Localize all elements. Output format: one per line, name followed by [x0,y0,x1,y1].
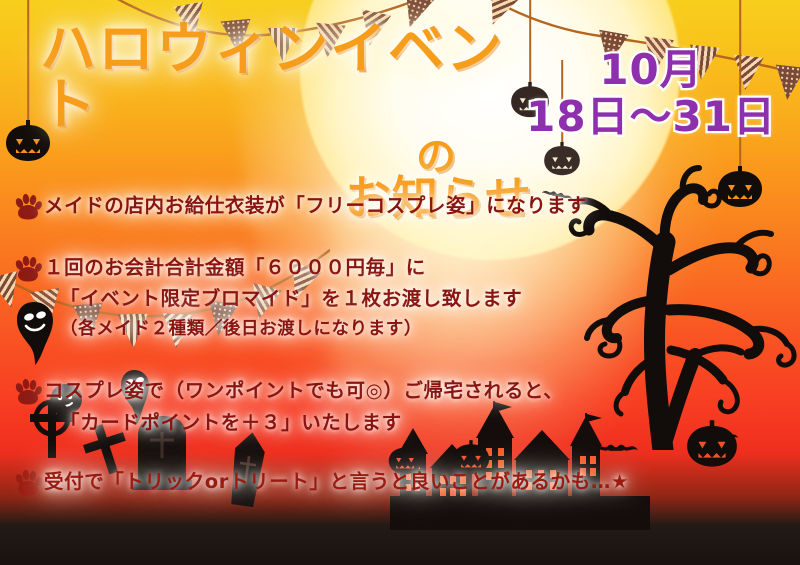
bullet-line: １回のお会計合計金額「６０００円毎」に [44,252,800,284]
paw-print-icon [0,252,44,282]
paw-print-icon [0,190,44,220]
bullet-text-group: １回のお会計合計金額「６０００円毎」に 「イベント限定ブロマイド」を１枚お渡し致… [44,252,800,344]
event-day-range: 18日〜31日 [526,93,776,140]
bullet-item: １回のお会計合計金額「６０００円毎」に 「イベント限定ブロマイド」を１枚お渡し致… [0,252,800,344]
bullet-text-group: メイドの店内お給仕衣装が「フリーコスプレ姿」になります [44,190,800,222]
bullet-list: メイドの店内お給仕衣装が「フリーコスプレ姿」になります １回のお会計合計金額「６… [0,186,800,500]
paw-print-icon [0,466,44,496]
bullet-text-group: コスプレ姿で（ワンポイントでも可◎）ご帰宅されると、 「カードポイントを＋３」い… [44,375,800,438]
bullet-line: 受付で「トリックorトリート」と言うと良いことがあるかも…★ [44,466,800,498]
bullet-line: （各メイド２種類／後日お渡しになります） [44,315,800,343]
event-month: 10月 [526,46,776,93]
title-main-line: ハロウィンイベント [40,22,560,134]
bullet-item: コスプレ姿で（ワンポイントでも可◎）ご帰宅されると、 「カードポイントを＋３」い… [0,375,800,438]
bullet-text-group: 受付で「トリックorトリート」と言うと良いことがあるかも…★ [44,466,800,498]
bullet-line: メイドの店内お給仕衣装が「フリーコスプレ姿」になります [44,190,800,222]
bullet-line: 「カードポイントを＋３」いたします [44,407,800,439]
bullet-item: メイドの店内お給仕衣装が「フリーコスプレ姿」になります [0,190,800,222]
bullet-line: 「イベント限定ブロマイド」を１枚お渡し致します [44,283,800,315]
paw-print-icon [0,375,44,405]
halloween-event-poster: ハロウィンイベント の お知らせ 10月 18日〜31日 メイドの店内お給仕衣装… [0,0,800,565]
event-date-block: 10月 18日〜31日 [526,46,776,140]
bullet-line: コスプレ姿で（ワンポイントでも可◎）ご帰宅されると、 [44,375,800,407]
bullet-item: 受付で「トリックorトリート」と言うと良いことがあるかも…★ [0,466,800,498]
